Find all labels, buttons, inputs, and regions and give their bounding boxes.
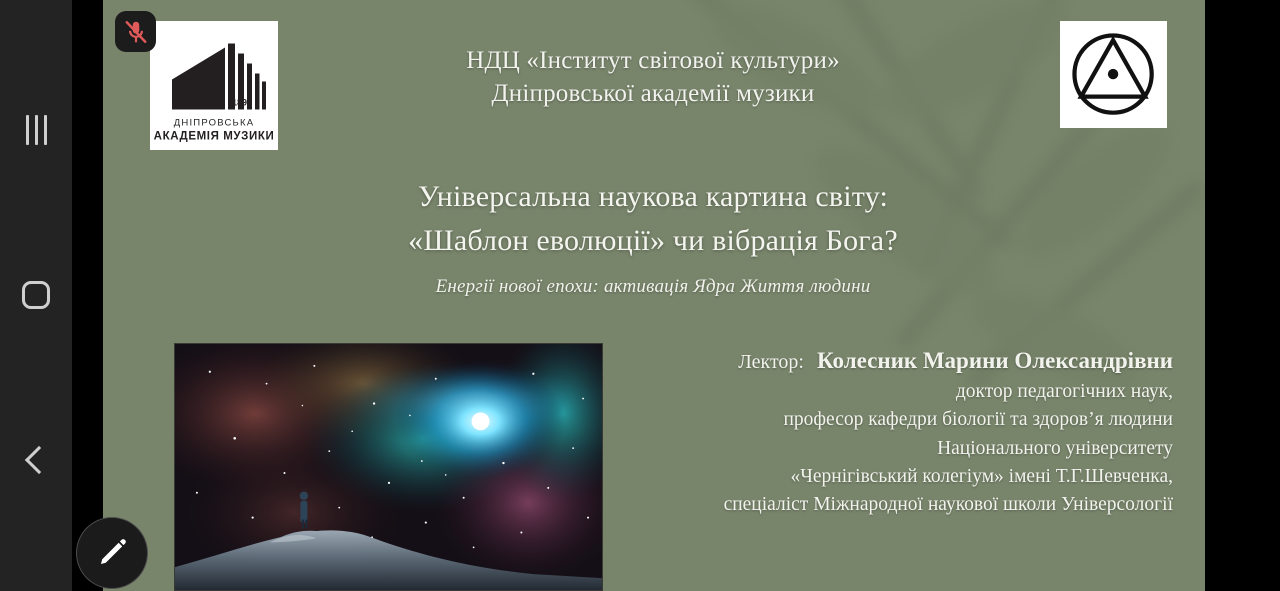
home-button[interactable] — [0, 265, 72, 325]
header-line-2: Дніпровської академії музики — [253, 77, 1053, 110]
slide-header: НДЦ «Інститут світової культури» Дніпров… — [253, 44, 1053, 110]
microphone-muted-icon — [123, 19, 149, 45]
lecturer-row-primary: Лектор: Колесник Марини Олександрівни — [603, 345, 1173, 376]
cosmos-nebula-image — [174, 343, 603, 591]
android-navigation-bar — [0, 0, 72, 591]
title-line-1: Універсальна наукова картина світу: — [213, 175, 1093, 219]
title-block: Універсальна наукова картина світу: «Шаб… — [213, 175, 1093, 298]
back-button[interactable] — [0, 430, 72, 490]
institute-emblem-logo — [1060, 21, 1167, 128]
lecturer-detail-line: професор кафедри біології та здоров’я лю… — [603, 406, 1173, 434]
presentation-slide[interactable]: 1898 ДНІПРОВСЬКА АКАДЕМІЯ МУЗИКИ НДЦ «Ін… — [103, 0, 1205, 591]
academy-logo-line1: ДНІПРОВСЬКА — [174, 118, 254, 129]
recent-apps-button[interactable] — [0, 100, 72, 160]
academy-logo-year: 1898 — [232, 98, 252, 108]
lecturer-detail-line: доктор педагогічних наук, — [603, 378, 1173, 406]
edit-fab-button[interactable] — [76, 517, 148, 589]
home-icon — [22, 281, 50, 309]
lecturer-block: Лектор: Колесник Марини Олександрівни до… — [603, 345, 1173, 519]
slide-subtitle: Енергії нової епохи: активація Ядра Житт… — [213, 276, 1093, 298]
academy-logo-line2: АКАДЕМІЯ МУЗИКИ — [154, 131, 275, 143]
pencil-edit-icon — [95, 536, 129, 570]
cosmos-nebula-figure-on-peak-icon — [175, 344, 602, 590]
lecturer-detail-line: «Чернігівський колегіум» імені Т.Г.Шевче… — [603, 463, 1173, 491]
lecturer-name: Колесник Марини Олександрівни — [817, 348, 1173, 373]
lecturer-detail-line: спеціаліст Міжнародної наукової школи Ун… — [603, 491, 1173, 519]
recent-apps-icon — [26, 115, 47, 145]
back-chevron-icon — [25, 446, 53, 474]
screen: 1898 ДНІПРОВСЬКА АКАДЕМІЯ МУЗИКИ НДЦ «Ін… — [0, 0, 1280, 591]
header-line-1: НДЦ «Інститут світової культури» — [253, 44, 1053, 77]
title-line-2: «Шаблон еволюції» чи вібрація Бога? — [213, 219, 1093, 263]
lecturer-label: Лектор: — [738, 351, 804, 373]
letterbox-left — [72, 0, 103, 591]
circle-triangle-dot-emblem-icon — [1066, 27, 1160, 121]
lecturer-detail-line: Національного університету — [603, 435, 1173, 463]
microphone-muted-badge[interactable] — [115, 11, 156, 52]
letterbox-right — [1205, 0, 1280, 591]
